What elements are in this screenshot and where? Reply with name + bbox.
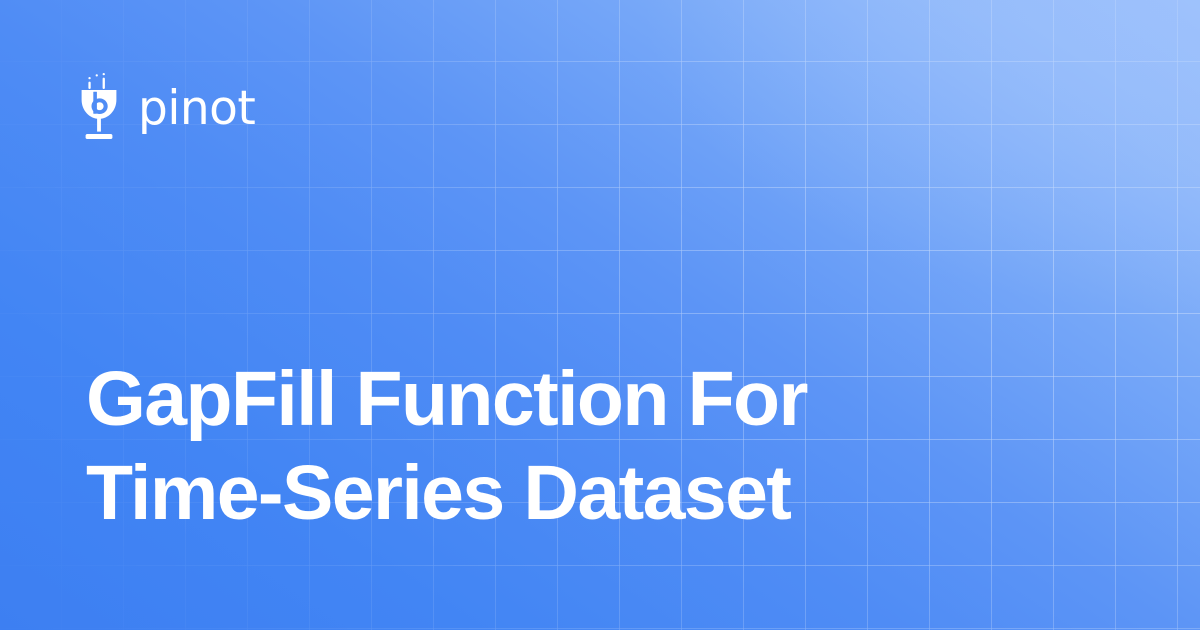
page-title-line-2: Time-Series Dataset [86,446,986,540]
page-title-line-1: GapFill Function For [86,352,986,446]
brand-wordmark: pinot [138,85,255,132]
social-share-card: pinot GapFill Function For Time-Series D… [0,0,1200,630]
brand-lockup: pinot [76,70,255,142]
pinot-wine-glass-logo-icon [76,73,122,139]
page-title: GapFill Function For Time-Series Dataset [86,352,986,540]
